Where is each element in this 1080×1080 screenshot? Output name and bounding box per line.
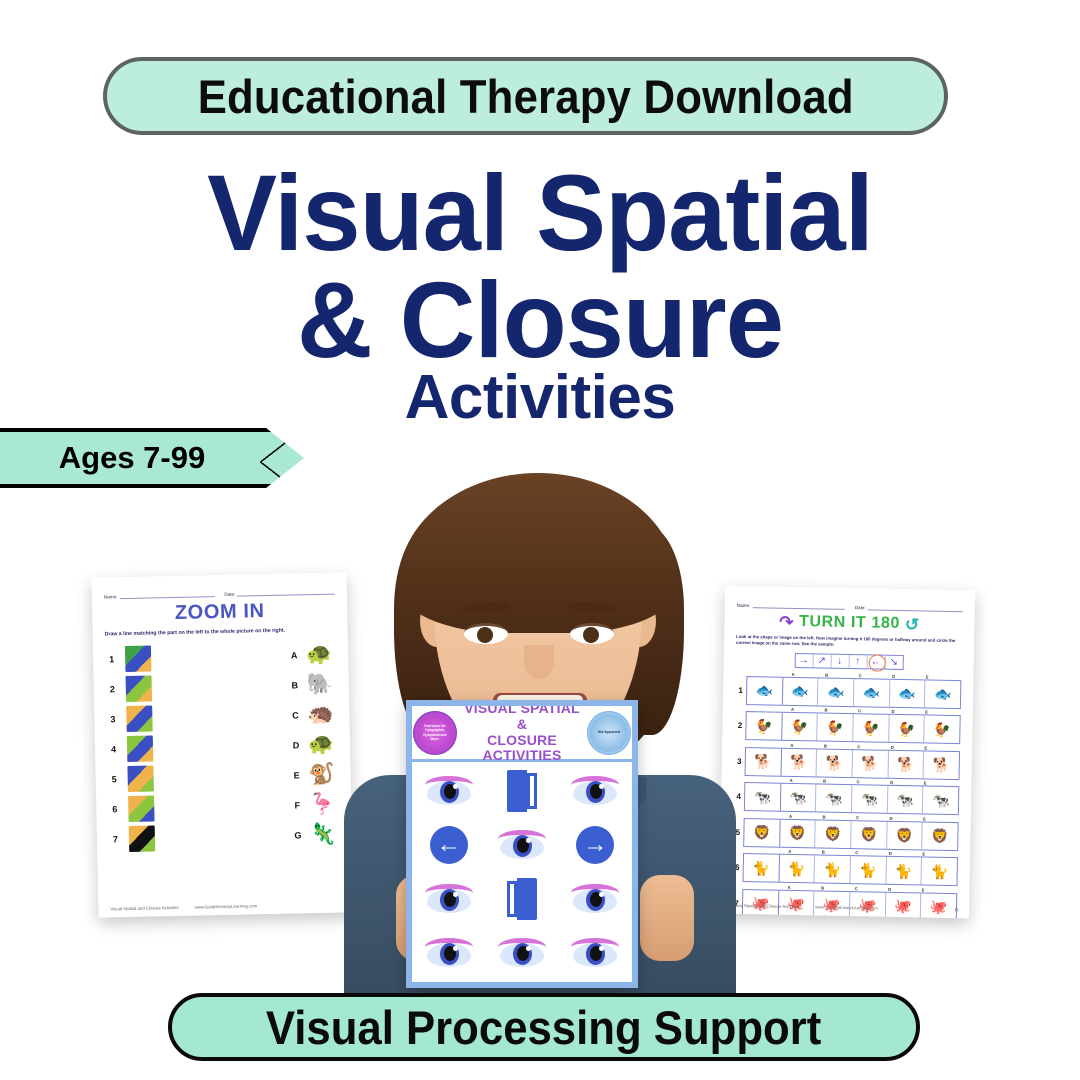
nose [524,645,554,679]
name-field-label: Name: [104,594,118,599]
option-cell[interactable]: 🐕 [888,751,924,779]
eye-icon [569,776,621,806]
option-cell[interactable]: 🐄 [888,786,924,814]
page-title: Visual Spatial & Closure [0,160,1080,374]
option-cell[interactable]: 🐈 [922,858,957,886]
page-subtitle: Activities [0,362,1080,433]
option-cell[interactable]: 🐓 [818,714,854,742]
row-number: 7 [109,834,129,844]
option-cell[interactable]: 🐕 [924,751,959,779]
eye-icon [569,938,621,968]
bottom-badge-label: Visual Processing Support [266,1000,821,1055]
footer-title: Visual Spatial and Closure Activities [110,905,178,911]
eye-left [464,623,508,644]
part-swatch[interactable] [127,765,154,792]
cover-title: VISUAL SPATIAL & CLOSURE ACTIVITIES [458,706,586,764]
part-swatch[interactable] [125,645,152,672]
arrow-right-icon: → [576,826,614,864]
option-cell[interactable]: 🐓 [925,716,960,744]
hair-front [398,473,678,633]
eye-icon [423,938,475,968]
cover-header: Exercises for Dysgraphia, Dyspraxia and … [412,706,632,762]
date-field-label: Date: [855,605,866,610]
option-cell[interactable]: 🐟 [818,678,854,706]
eye-right [570,623,614,644]
option-cell[interactable]: 🐟 [925,680,960,708]
row-number: 3 [106,714,126,724]
sample-arrow-icon: ↑ [849,655,867,668]
option-cell[interactable]: 🦁 [851,821,887,849]
name-field[interactable]: Name: [104,589,215,599]
arrow-left-icon: ← [430,826,468,864]
poster-canvas: Educational Therapy Download Visual Spat… [0,0,1080,1080]
cover-title-line1: VISUAL SPATIAL & [458,706,586,733]
eye-icon [496,938,548,968]
eye-icon [423,776,475,806]
door-icon [507,770,537,812]
ages-banner-label: Ages 7-99 [59,440,205,476]
option-cell[interactable]: 🦁 [816,820,852,848]
part-swatch[interactable] [128,795,155,822]
option-cell[interactable]: 🐟 [890,680,926,708]
option-cell[interactable]: 🐈 [815,856,851,884]
name-field-line [119,589,214,599]
top-badge: Educational Therapy Download [103,57,948,135]
page-title-line2: & Closure [16,267,1064,374]
dysgraphia-seal-icon: Exercises for Dysgraphia, Dyspraxia and … [416,714,454,752]
sample-arrow-icon: ↘ [885,656,902,669]
option-cell[interactable]: 🦁 [923,822,958,850]
option-cell[interactable]: 🐓 [889,715,925,743]
footer-url: www.GoodSensoryLearning.com [195,903,258,909]
part-swatch[interactable] [129,825,156,852]
eye-icon [423,884,475,914]
option-cell[interactable]: 🐓 [853,714,889,742]
option-cell[interactable]: 🐈 [850,856,886,884]
rotate-right-icon: ↺ [905,616,920,633]
row-number: 5 [108,774,128,784]
cover-title-line2: CLOSURE ACTIVITIES [458,733,586,765]
part-swatch[interactable] [126,675,153,702]
option-cell[interactable]: 🐕 [853,750,889,778]
eye-icon [569,884,621,914]
part-swatch[interactable] [126,705,153,732]
date-field[interactable]: Date: [855,602,963,612]
part-swatch[interactable] [127,735,154,762]
sample-arrow-icon: ← [867,655,885,668]
cover-page: Exercises for Dysgraphia, Dyspraxia and … [406,700,638,988]
bottom-badge: Visual Processing Support [168,993,920,1061]
eye-icon [496,830,548,860]
option-cell[interactable]: 🦁 [887,822,923,850]
top-badge-label: Educational Therapy Download [197,69,853,124]
row-number: 4 [107,744,127,754]
option-cell[interactable]: 🐄 [923,787,958,815]
footer-page-number: 11 [954,907,959,912]
row-number: 6 [108,804,128,814]
kid-approved-seal-icon: Kid Approved [590,714,628,752]
row-number: 1 [105,654,125,664]
date-field-label: Date: [224,592,235,597]
option-cell[interactable]: 🐟 [854,679,890,707]
row-number: 2 [106,684,126,694]
option-cell[interactable]: 🐕 [817,749,853,777]
option-cell[interactable]: 🐄 [852,785,888,813]
page-title-line1: Visual Spatial [16,160,1064,267]
cover-icon-grid: ←→ [412,762,632,982]
door-icon [507,878,537,920]
hand-right [640,875,694,961]
sample-arrow-icon: ↓ [831,655,849,668]
option-cell[interactable]: 🐈 [886,857,922,885]
option-cell[interactable]: 🐄 [816,785,852,813]
date-field-line [868,602,963,612]
